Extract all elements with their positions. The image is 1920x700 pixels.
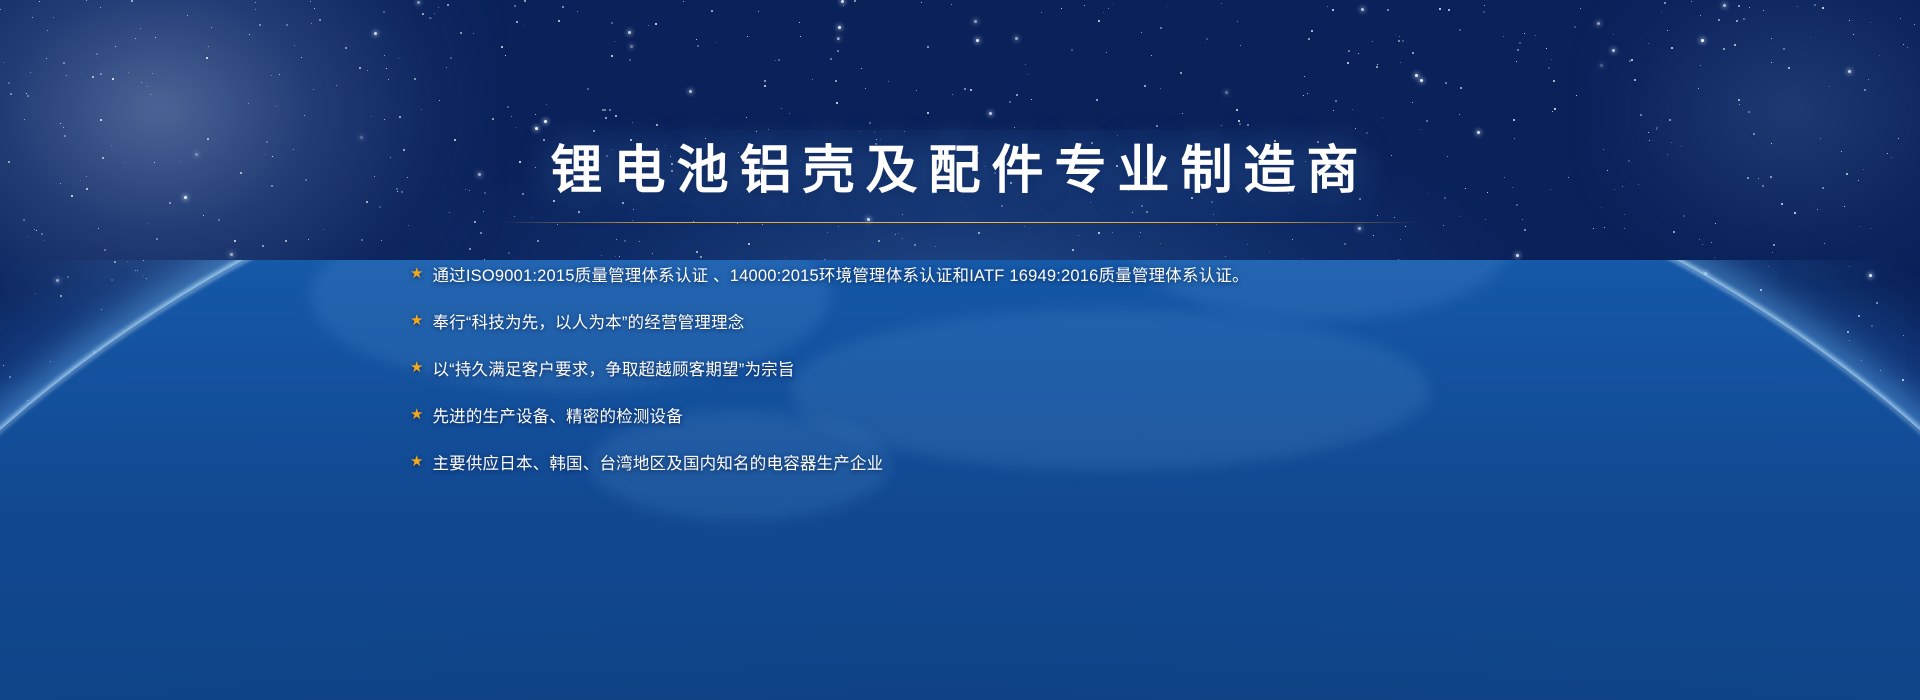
list-item: ★ 通过ISO9001:2015质量管理体系认证 、14000:2015环境管理…: [400, 250, 1520, 297]
star-icon: ★: [410, 266, 423, 281]
list-item: ★ 主要供应日本、韩国、台湾地区及国内知名的电容器生产企业: [400, 438, 1520, 485]
list-item: ★ 以“持久满足客户要求，争取超越顾客期望”为宗旨: [400, 344, 1520, 391]
feature-list: ★ 通过ISO9001:2015质量管理体系认证 、14000:2015环境管理…: [400, 250, 1520, 485]
list-item-label: 通过ISO9001:2015质量管理体系认证 、14000:2015环境管理体系…: [432, 262, 1248, 286]
list-item-label: 主要供应日本、韩国、台湾地区及国内知名的电容器生产企业: [432, 450, 883, 474]
list-item-label: 先进的生产设备、精密的检测设备: [432, 403, 683, 427]
star-icon: ★: [410, 360, 423, 375]
star-icon: ★: [410, 407, 423, 422]
star-icon: ★: [410, 454, 423, 469]
list-item-label: 奉行“科技为先，以人为本”的经营管理理念: [432, 309, 744, 333]
title-divider: [500, 222, 1420, 223]
hero-banner: 锂电池铝壳及配件专业制造商 ★ 通过ISO9001:2015质量管理体系认证 、…: [0, 0, 1920, 700]
star-icon: ★: [410, 313, 423, 328]
list-item: ★ 奉行“科技为先，以人为本”的经营管理理念: [400, 297, 1520, 344]
list-item: ★ 先进的生产设备、精密的检测设备: [400, 391, 1520, 438]
list-item-label: 以“持久满足客户要求，争取超越顾客期望”为宗旨: [432, 356, 794, 380]
page-title: 锂电池铝壳及配件专业制造商: [0, 128, 1920, 203]
